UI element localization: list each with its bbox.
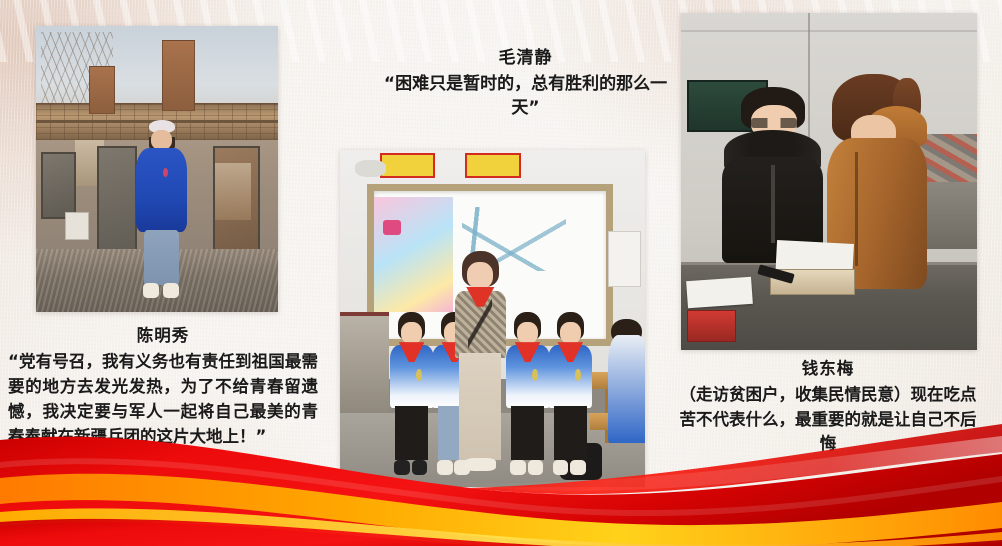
shoe-right — [163, 283, 179, 298]
person-quote-qian-dongmei: （走访贫困户，收集民情民意）现在吃点苦不代表什么，最重要的就是让自己不后悔 — [672, 383, 984, 457]
seated-student — [608, 335, 645, 443]
chimney-right — [162, 40, 195, 111]
face — [151, 130, 172, 150]
school-badge-icon — [575, 369, 581, 381]
shoe-right — [570, 460, 586, 475]
shorts — [511, 406, 544, 460]
ceiling-lamp — [355, 160, 386, 177]
face — [517, 322, 538, 344]
photo-left-content — [36, 26, 278, 312]
caption-mao-qingjing: 毛清静 “困难只是暂时的，总有胜利的那么一天” — [378, 46, 673, 121]
person-quote-chen-mingxiu: “党有号召，我有义务也有责任到祖国最需要的地方去发光发热，为了不给青春留遗憾，我… — [8, 349, 318, 449]
paper-sheet — [686, 277, 753, 308]
shoe-left — [394, 460, 410, 475]
projected-slide — [374, 197, 453, 312]
photo-qian-dongmei[interactable] — [681, 13, 977, 350]
shorts — [395, 406, 428, 460]
photo-right-content — [681, 13, 977, 350]
photo-center-content — [340, 150, 645, 487]
pupil-4 — [547, 312, 593, 481]
person-name-mao-qingjing: 毛清静 — [378, 46, 673, 71]
face — [467, 262, 493, 289]
caption-chen-mingxiu: 陈明秀 “党有号召，我有义务也有责任到祖国最需要的地方去发光发热，为了不给青春留… — [8, 323, 318, 449]
wall-notice — [608, 231, 641, 287]
wall-seam-horizontal — [681, 30, 977, 32]
pupil-1 — [389, 312, 435, 481]
person-name-qian-dongmei: 钱东梅 — [672, 357, 984, 382]
bag-strap — [468, 293, 492, 355]
coat-seam — [855, 152, 858, 267]
wall-banner-right — [465, 153, 521, 177]
photo-mao-qingjing[interactable] — [340, 150, 645, 487]
caption-qian-dongmei: 钱东梅 （走访贫困户，收集民情民意）现在吃点苦不代表什么，最重要的就是让自己不后… — [672, 357, 984, 457]
glasses-icon — [751, 118, 797, 128]
white-bucket — [65, 212, 89, 240]
person-standing — [135, 120, 188, 303]
pupil-3 — [505, 312, 551, 481]
shoe-right — [528, 460, 544, 475]
door-middle — [97, 146, 137, 264]
chimney-left — [89, 66, 115, 114]
projected-title — [383, 220, 400, 235]
person-name-chen-mingxiu: 陈明秀 — [8, 323, 318, 348]
shoe-right — [412, 460, 428, 475]
ribbon-gold-filament — [0, 508, 1002, 546]
school-badge-icon — [532, 369, 538, 381]
ribbon-red-bottom — [0, 519, 1002, 546]
wide-trousers — [459, 353, 501, 460]
podium — [340, 312, 389, 417]
blue-jacket — [136, 148, 187, 232]
shoe-left — [143, 283, 159, 298]
slide-canvas: 毛清静 “困难只是暂时的，总有胜利的那么一天” 陈明秀 “党有号召，我有义务也有… — [0, 0, 1002, 546]
jeans — [144, 230, 179, 285]
photo-chen-mingxiu[interactable] — [36, 26, 278, 312]
face — [401, 322, 422, 344]
rusted-panel — [215, 163, 251, 220]
shorts — [554, 406, 587, 460]
shoe-left — [553, 460, 569, 475]
shoe-left — [437, 460, 453, 475]
red-notebook — [687, 310, 736, 342]
face — [560, 322, 581, 344]
shoes — [465, 458, 496, 471]
wall-banner-left — [380, 153, 436, 177]
window-left — [41, 152, 76, 219]
shoe-left — [510, 460, 526, 475]
coat-zipper — [771, 165, 775, 243]
person-quote-mao-qingjing: “困难只是暂时的，总有胜利的那么一天” — [378, 72, 673, 121]
teacher-figure — [453, 251, 508, 473]
